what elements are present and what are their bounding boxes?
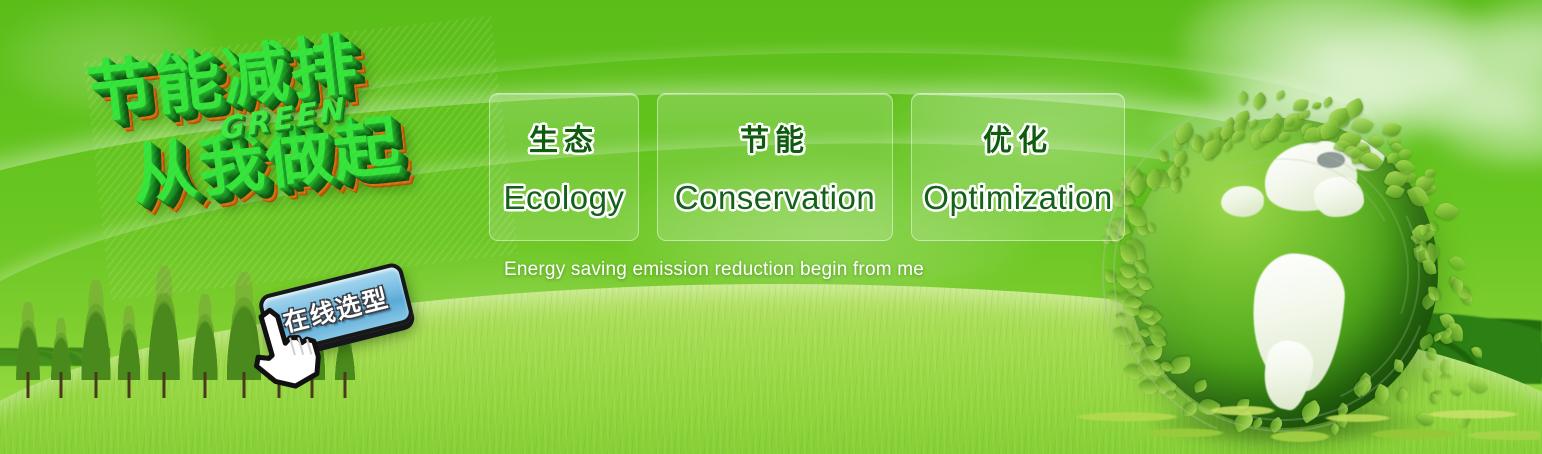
feature-card-optimization[interactable]: 优化Optimization [911, 93, 1125, 241]
leaf-icon [1448, 276, 1459, 288]
feature-card-title-cn: 优化 [983, 117, 1053, 159]
leaf-icon [1449, 254, 1467, 273]
leaf-icon [1275, 90, 1286, 100]
cloud-icon [1180, 0, 1480, 120]
leaf-icon [1138, 172, 1147, 182]
globe-continents [1128, 118, 1438, 428]
leaf-icon [1172, 122, 1196, 145]
leaf-icon [1293, 98, 1309, 112]
leaf-icon [1341, 97, 1366, 120]
leaf-icon [1126, 174, 1149, 197]
feature-card-title-cn: 生态 [529, 117, 599, 159]
leaf-icon [1125, 205, 1133, 215]
leaf-icon [1426, 347, 1439, 361]
feature-card-title-en: Ecology [504, 179, 625, 217]
leaf-icon [1129, 341, 1142, 353]
leaf-icon [1171, 135, 1187, 151]
leaf-icon [1416, 177, 1436, 197]
leaf-icon [1422, 369, 1434, 383]
feature-card-title-en: Conservation [675, 179, 875, 217]
fallen-leaves [1060, 392, 1540, 454]
cloud-icon [1470, 0, 1542, 80]
leaf-icon [1382, 120, 1401, 138]
landmass-greenland [1345, 137, 1385, 171]
leaf-icon [1299, 110, 1311, 120]
feature-card-ecology[interactable]: 生态Ecology [489, 93, 639, 241]
leaf-icon [1250, 92, 1269, 111]
green-energy-banner: 节能减排 从我做起 GREEN 在线选型 生态Ecology节能Conserva… [0, 0, 1542, 454]
leaf-icon [1390, 141, 1403, 154]
leaf-icon [1434, 198, 1460, 223]
leaf-icon [1312, 101, 1322, 110]
leaf-icon [1328, 108, 1350, 127]
leaf-icon [1159, 150, 1169, 162]
leaf-icon [1335, 113, 1352, 129]
leaf-icon [1105, 271, 1115, 283]
landmass-north-america-east [1314, 177, 1364, 217]
tagline: Energy saving emission reduction begin f… [504, 259, 924, 281]
leafy-earth-globe [1128, 118, 1438, 428]
leaf-icon [1414, 174, 1433, 191]
hand-pointer-icon [240, 300, 326, 392]
leaf-icon [1398, 147, 1412, 160]
leaf-icon [1425, 169, 1436, 178]
headline-3d-text: 节能减排 从我做起 GREEN [84, 16, 519, 301]
conifer-tree [10, 302, 46, 398]
cloud-icon [1320, 10, 1542, 130]
leaf-icon [1351, 115, 1375, 137]
feature-card-title-cn: 节能 [740, 117, 810, 159]
feature-card-title-en: Optimization [923, 179, 1112, 217]
landmass-alaska [1221, 186, 1264, 217]
leaf-icon [1321, 96, 1334, 108]
cloud-icon [1420, 70, 1542, 165]
leaf-icon [1235, 90, 1250, 106]
leaf-icon [1388, 135, 1402, 148]
leaf-icon [1178, 135, 1189, 147]
feature-card-list: 生态Ecology节能Conservation优化Optimization [489, 93, 1125, 241]
landmass-ice-cap [1317, 152, 1345, 168]
feature-card-conservation[interactable]: 节能Conservation [657, 93, 893, 241]
conifer-tree [46, 318, 76, 398]
